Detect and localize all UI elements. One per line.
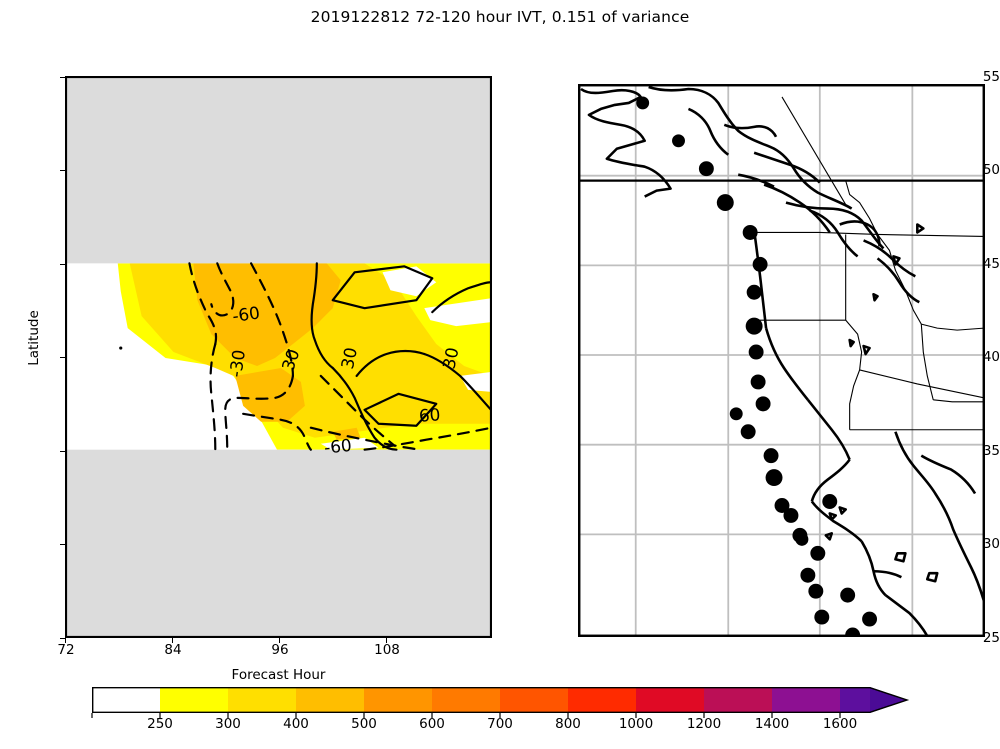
masked-region-south	[66, 450, 491, 637]
contour-label-neg60-b: -60	[323, 435, 353, 458]
y-tick-mark-50	[60, 170, 65, 171]
reference-map-svg	[579, 85, 984, 636]
y-tick-mark-45	[60, 264, 65, 265]
figure-canvas: 2019122812 72-120 hour IVT, 0.151 of var…	[0, 0, 1000, 749]
page-title: 2019122812 72-120 hour IVT, 0.151 of var…	[0, 8, 1000, 26]
contour-label-pos60: 60	[418, 404, 441, 425]
x-tick-label-108: 108	[357, 642, 417, 658]
contour-label-neg30: -30	[225, 348, 249, 378]
colorbar	[92, 687, 908, 713]
y-tick-mark-30	[60, 544, 65, 545]
colorbar-label-1600: 1600	[810, 716, 870, 732]
x-tick-label-72: 72	[36, 642, 96, 658]
masked-region-north	[66, 77, 491, 263]
x-tick-mark-108	[386, 638, 387, 643]
y-axis-title: Latitude	[26, 278, 42, 398]
colorbar-segments	[92, 687, 908, 713]
colorbar-label-700: 700	[470, 716, 530, 732]
contour-plot-svg: -60 -30 -60 30 30 30 60	[66, 77, 491, 637]
colorbar-label-500: 500	[334, 716, 394, 732]
colorbar-label-400: 400	[266, 716, 326, 732]
x-tick-label-96: 96	[250, 642, 310, 658]
colorbar-label-1400: 1400	[742, 716, 802, 732]
colorbar-label-1200: 1200	[674, 716, 734, 732]
x-tick-label-84: 84	[143, 642, 203, 658]
y-tick-label-55: 55	[954, 69, 1000, 85]
y-tick-mark-40	[60, 357, 65, 358]
x-axis-title: Forecast Hour	[65, 667, 492, 683]
y-tick-mark-35	[60, 451, 65, 452]
x-tick-mark-84	[172, 638, 173, 643]
colorbar-label-800: 800	[538, 716, 598, 732]
reference-map-panel	[578, 84, 985, 637]
colorbar-svg	[92, 687, 908, 713]
contour-label-neg60-a: -60	[231, 302, 261, 326]
x-tick-mark-96	[279, 638, 280, 643]
colorbar-label-1000: 1000	[606, 716, 666, 732]
x-tick-mark-72	[65, 638, 66, 643]
colorbar-label-300: 300	[198, 716, 258, 732]
colorbar-label-600: 600	[402, 716, 462, 732]
y-tick-mark-55	[60, 77, 65, 78]
contour-plot-panel: -60 -30 -60 30 30 30 60	[65, 76, 492, 638]
colorbar-label-250: 250	[130, 716, 190, 732]
